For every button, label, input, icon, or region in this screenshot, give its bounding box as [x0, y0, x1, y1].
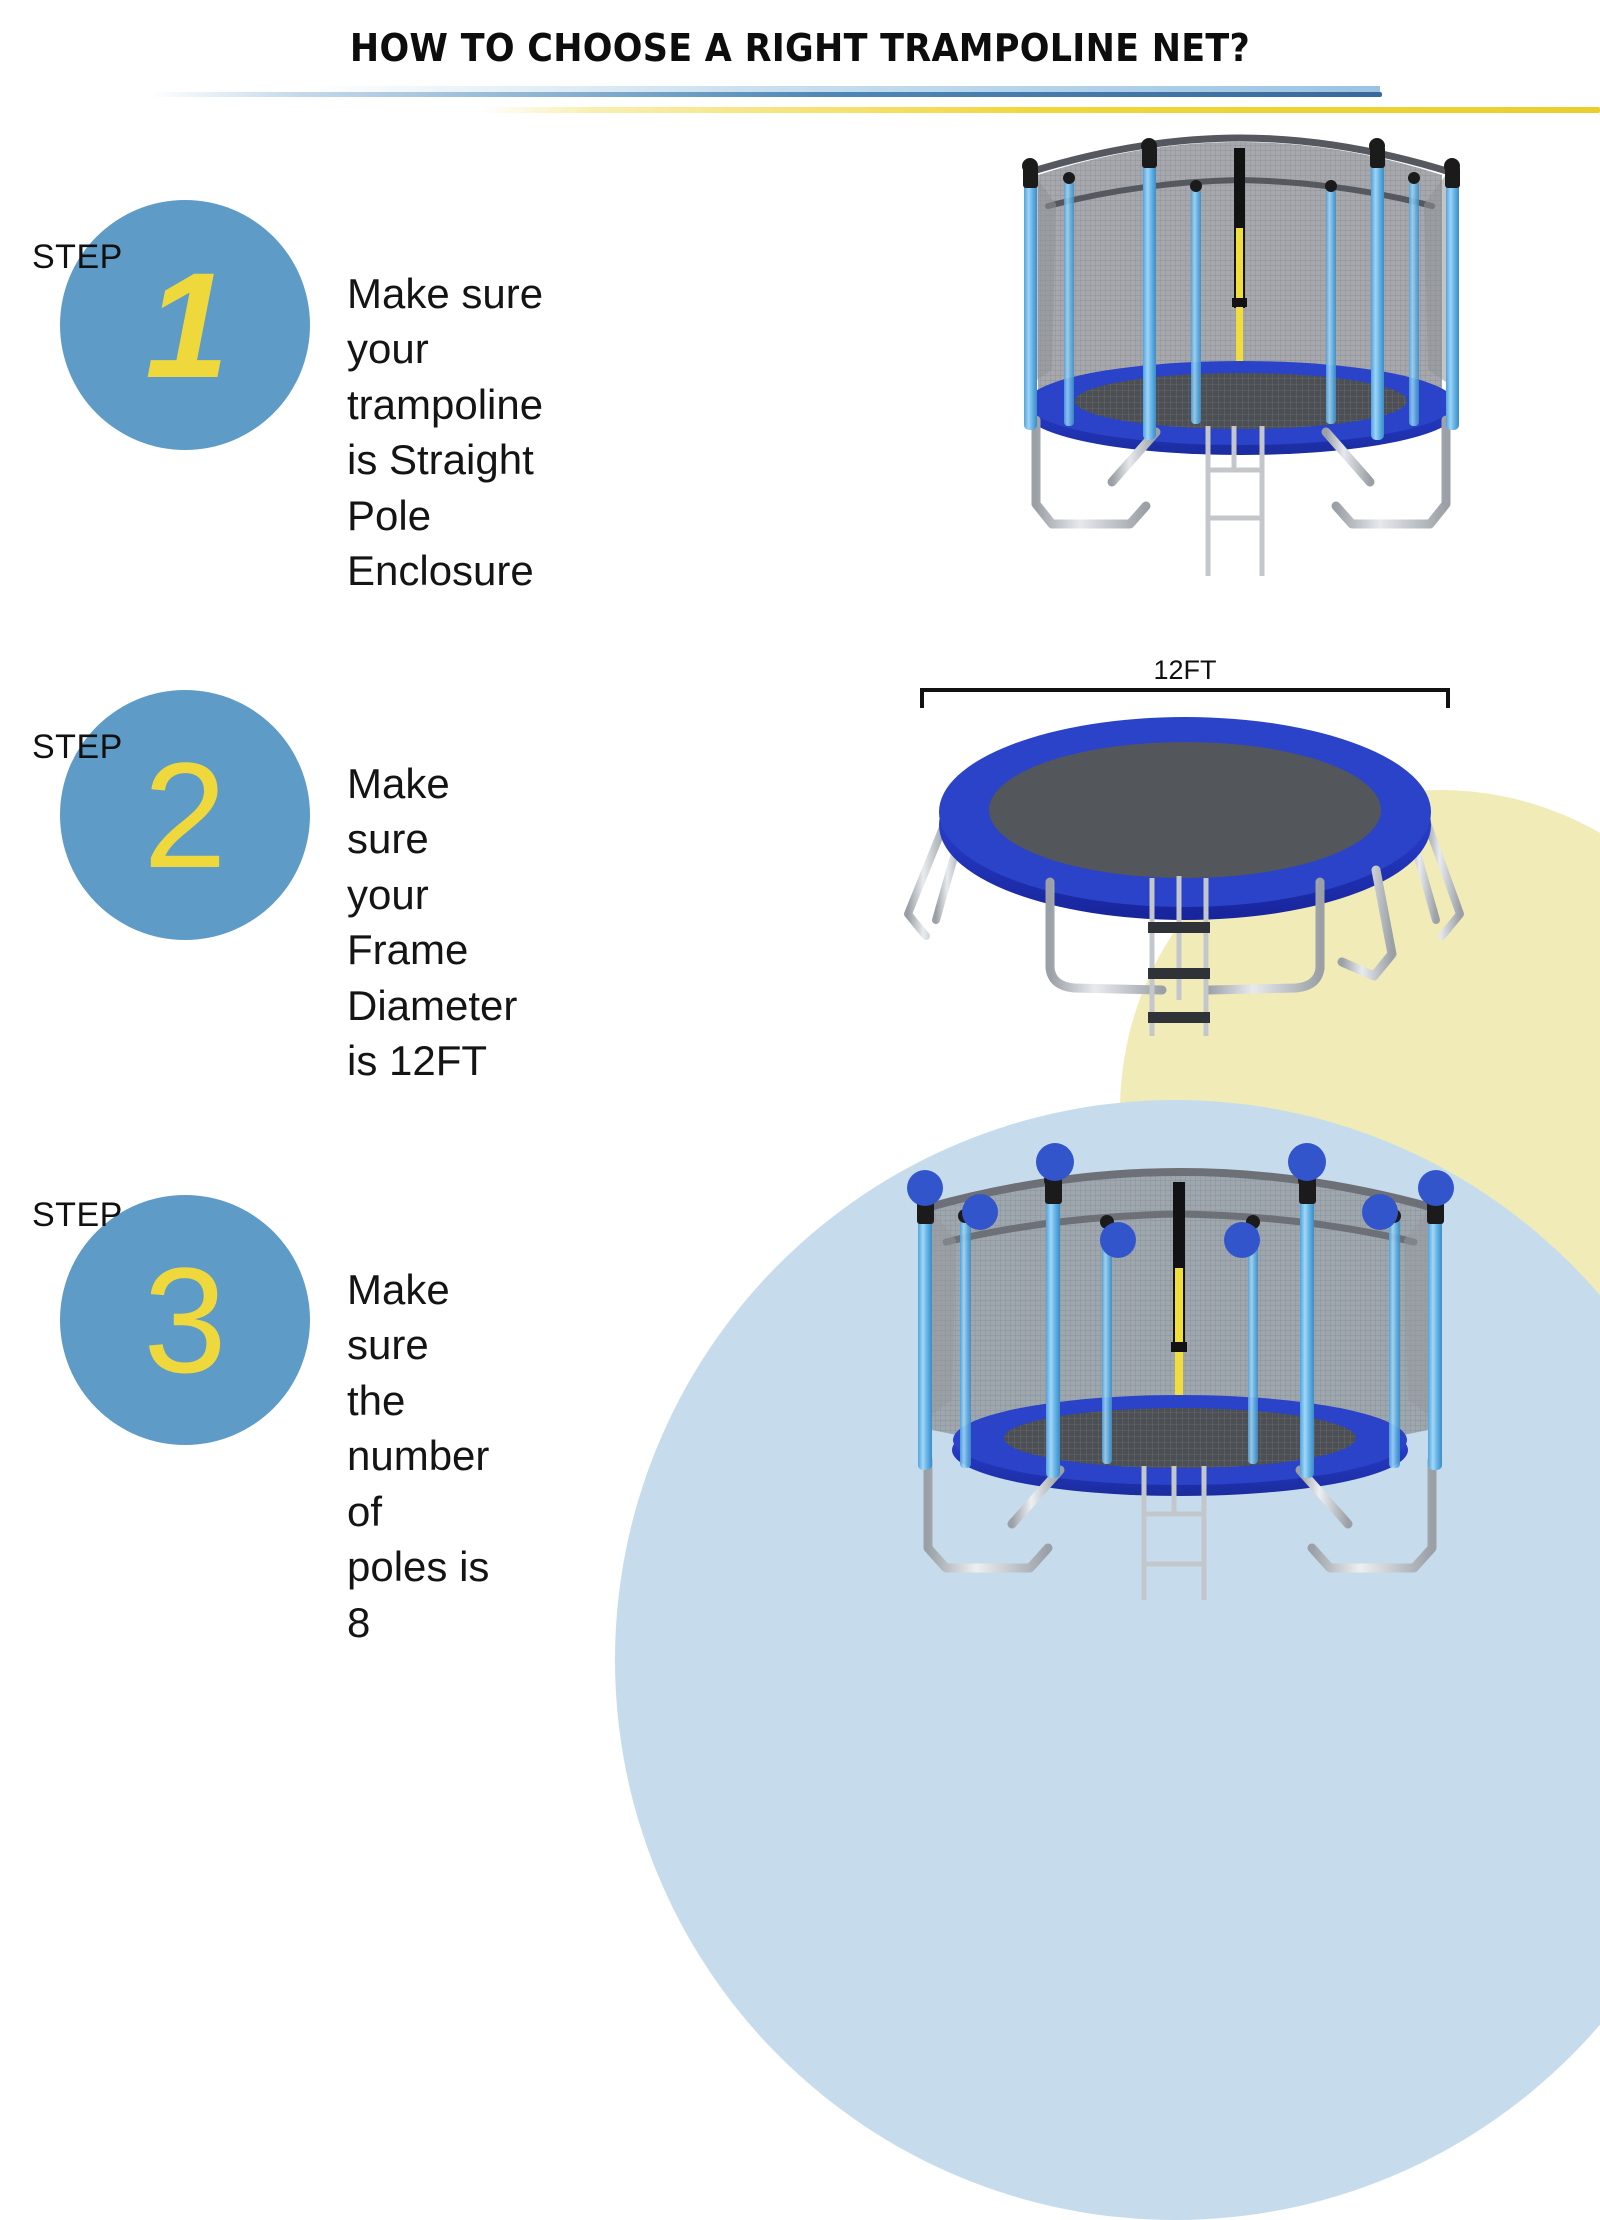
step-1-description: Make sure your trampoline is Straight Po…: [347, 266, 543, 599]
page-title: HOW TO CHOOSE A RIGHT TRAMPOLINE NET?: [64, 26, 1536, 70]
dimension-line: [920, 688, 1450, 692]
trampoline-mat-and-pad: [952, 1395, 1408, 1496]
pole-marker-dot-1: [907, 1170, 943, 1206]
trampoline-pole-count-illustration: [870, 1100, 1490, 1600]
trampoline-enclosure-illustration: [960, 120, 1520, 580]
pole-marker-dot-6: [1288, 1143, 1326, 1181]
step-3-description: Make sure the number of poles is 8: [347, 1262, 489, 1650]
pole-marker-dot-7: [1362, 1194, 1398, 1230]
trampoline-frame-illustration: [890, 700, 1480, 1040]
pole-marker-dot-8: [1418, 1170, 1454, 1206]
title-divider-blue: [150, 92, 1382, 97]
frame-pad: [939, 717, 1431, 920]
dimension-label: 12FT: [920, 655, 1450, 686]
pole-marker-dot-2: [962, 1194, 998, 1230]
trampoline-mat-and-pad: [1026, 361, 1456, 455]
title-divider-yellow: [480, 107, 1600, 113]
infographic-canvas: HOW TO CHOOSE A RIGHT TRAMPOLINE NET? ST…: [0, 0, 1600, 1600]
step-1-word: STEP: [32, 238, 123, 277]
pole-marker-dot-5: [1224, 1222, 1260, 1258]
step-2-word: STEP: [32, 728, 123, 767]
pole-marker-dot-4: [1100, 1222, 1136, 1258]
pole-marker-dot-3: [1036, 1143, 1074, 1181]
step-2-description: Make sure your Frame Diameter is 12FT: [347, 756, 517, 1089]
step-3-word: STEP: [32, 1196, 123, 1235]
